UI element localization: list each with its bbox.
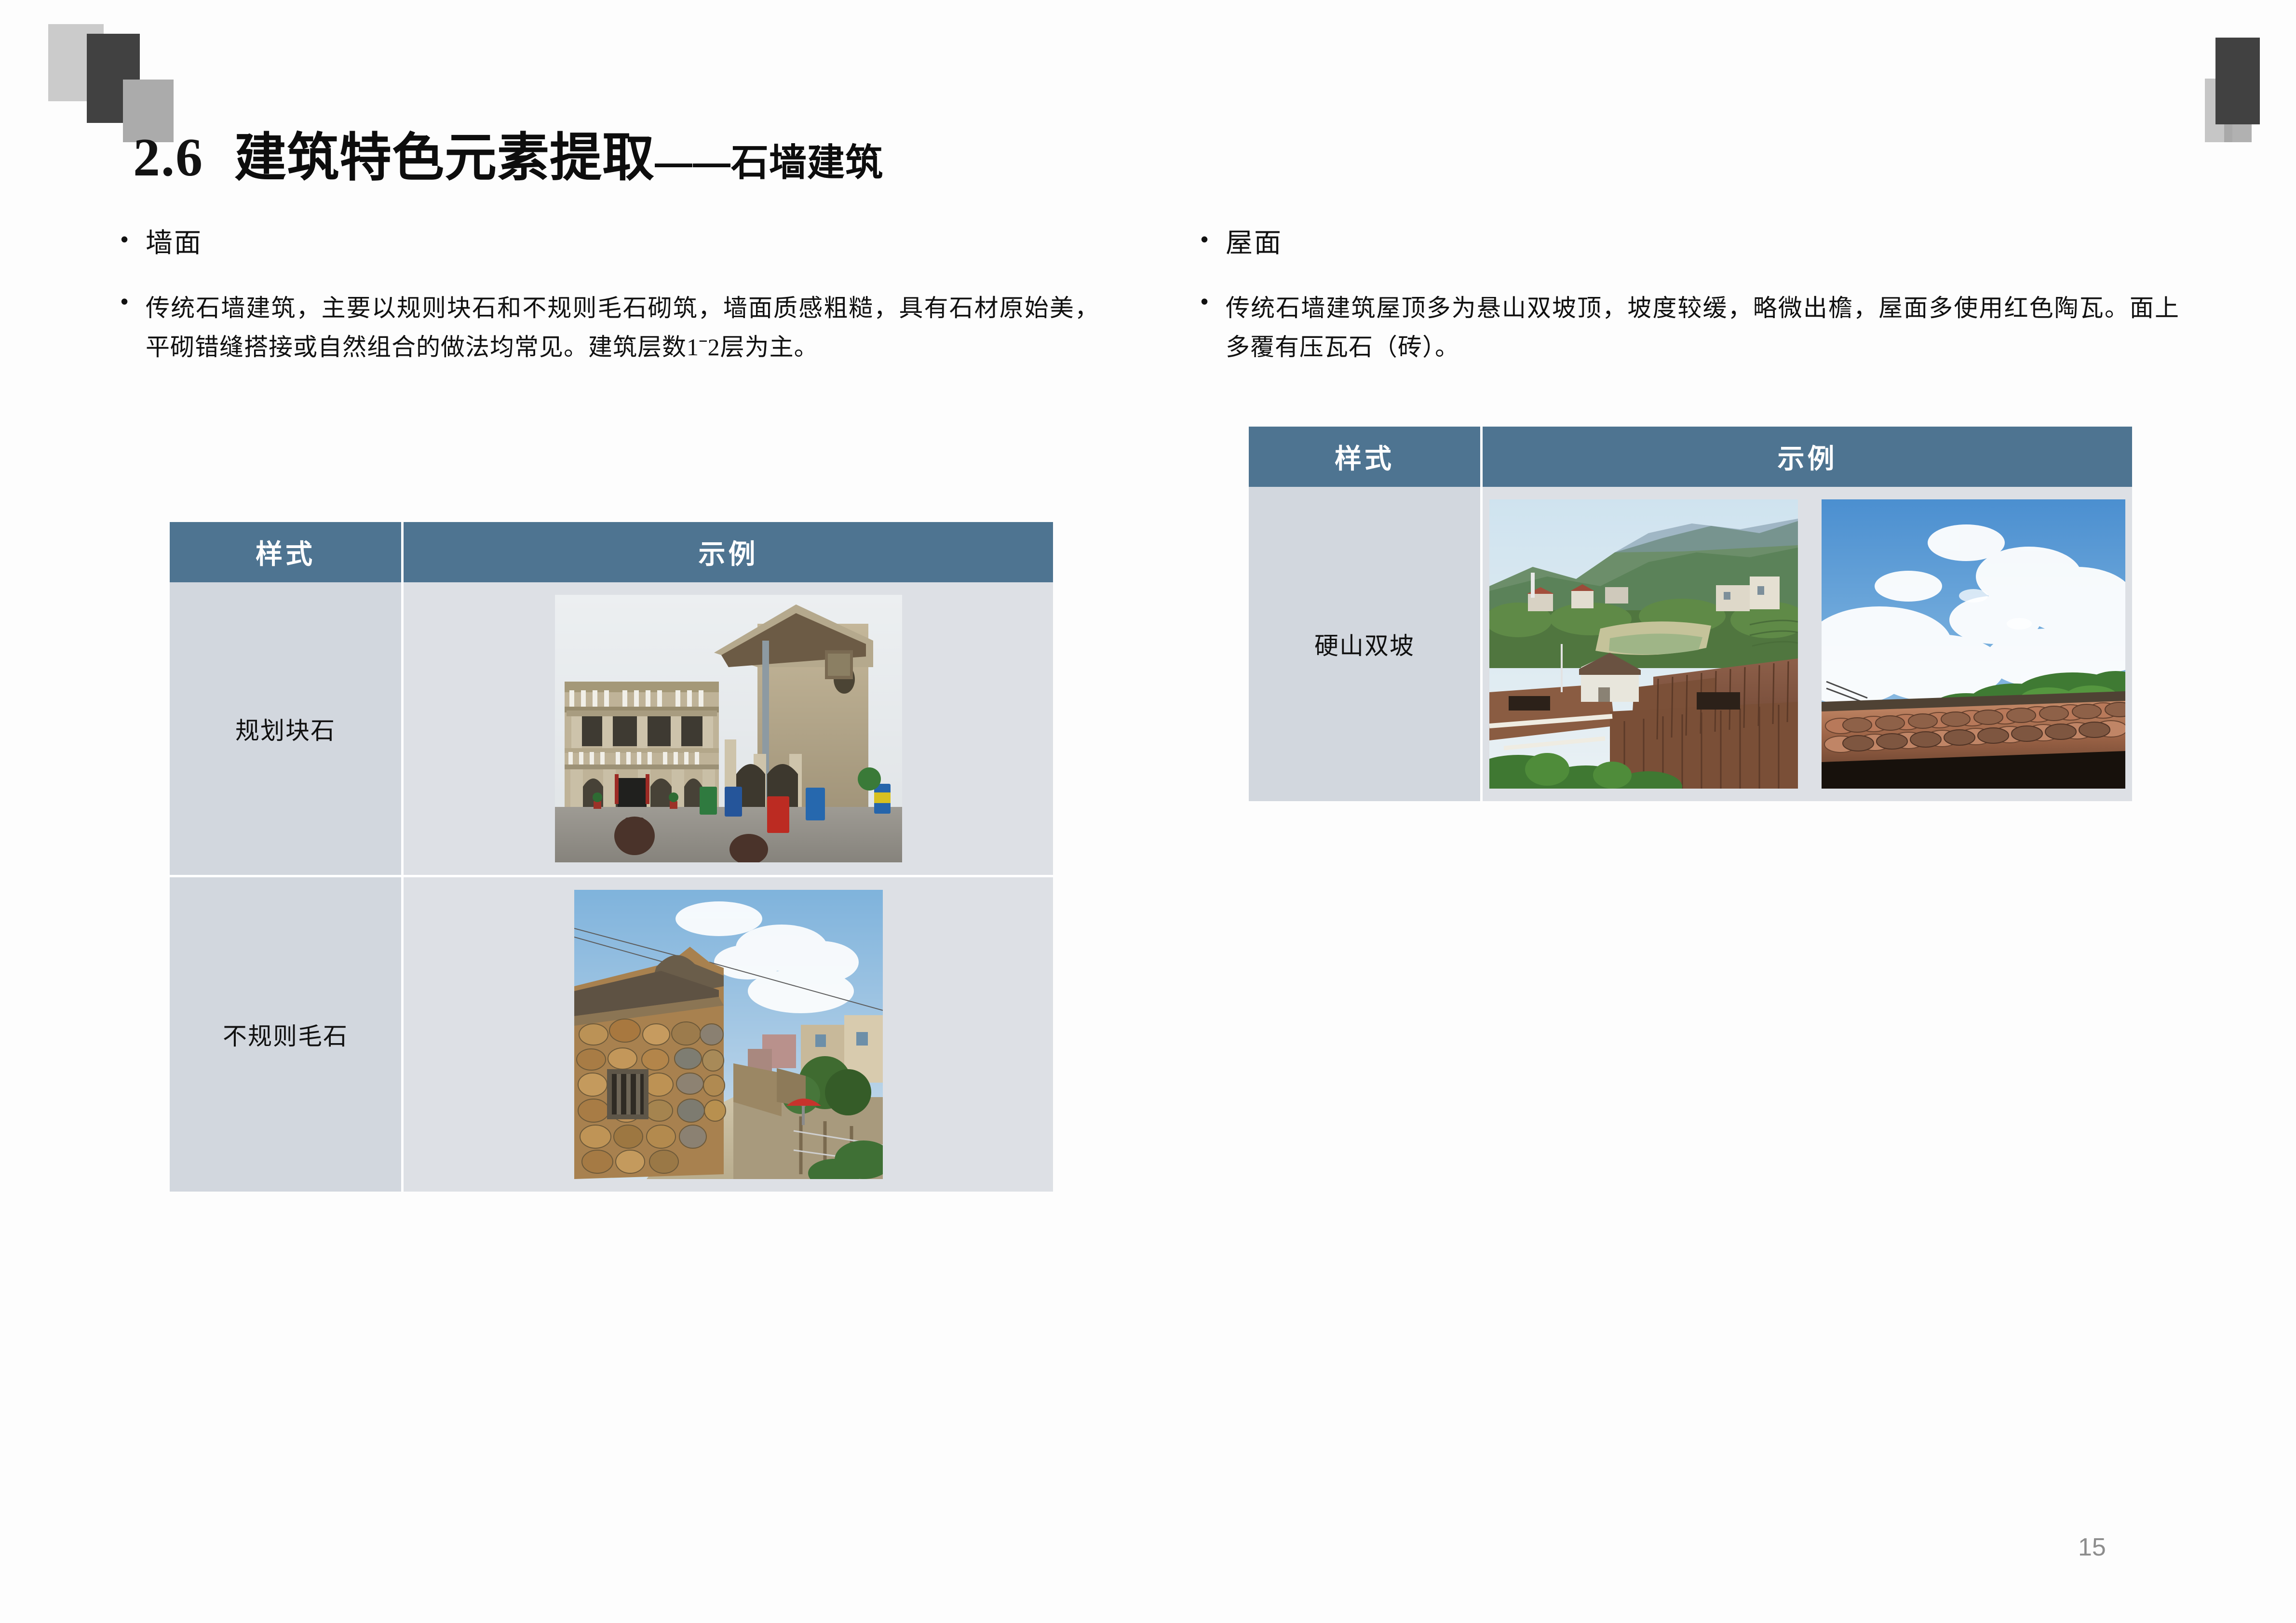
bullet-icon: •: [1201, 289, 1226, 314]
left-column: • 墙面 • 传统石墙建筑，主要以规则块石和不规则毛石砌筑，墙面质感粗糙，具有石…: [121, 227, 1099, 372]
right-spacer: [1201, 264, 2179, 289]
right-column: • 屋面 • 传统石墙建筑屋顶多为悬山双坡顶，坡度较缓，略微出檐，屋面多使用红色…: [1201, 227, 2179, 372]
table-header-row: 样式 示例: [1249, 427, 2132, 487]
right-heading-text: 屋面: [1226, 227, 1283, 259]
page-number: 15: [2078, 1533, 2106, 1562]
header-cell-style: 样式: [1249, 427, 1483, 487]
bullet-icon: •: [121, 227, 146, 252]
left-spacer: [121, 264, 1099, 289]
table-row: 硬山双坡: [1249, 487, 2132, 801]
stone-courtyard-building-photo: [555, 595, 902, 862]
cell-style-label: 硬山双坡: [1249, 487, 1483, 801]
title-section-number: 2.6: [133, 127, 203, 189]
cell-example-image: [404, 877, 1053, 1192]
left-body-bullet: • 传统石墙建筑，主要以规则块石和不规则毛石砌筑，墙面质感粗糙，具有石材原始美，…: [121, 289, 1099, 367]
left-heading-bullet: • 墙面: [121, 227, 1099, 259]
bullet-icon: •: [1201, 227, 1226, 252]
cell-style-label: 不规则毛石: [170, 877, 404, 1192]
page-title: 2.6 建筑特色元素提取 ——石墙建筑: [133, 116, 883, 191]
title-subtitle-text: ——石墙建筑: [655, 133, 883, 187]
bullet-icon: •: [121, 289, 146, 314]
slide-canvas: 2.6 建筑特色元素提取 ——石墙建筑 • 墙面 • 传统石墙建筑，主要以规则块…: [0, 0, 2296, 1623]
right-body-text: 传统石墙建筑屋顶多为悬山双坡顶，坡度较缓，略微出檐，屋面多使用红色陶瓦。面上多覆…: [1226, 289, 2179, 367]
left-heading-text: 墙面: [146, 227, 203, 259]
decoration-right-dark-block: [2215, 38, 2260, 124]
clay-roof-tiles-closeup-photo: [1822, 499, 2125, 789]
photo-container: [404, 877, 1053, 1192]
header-cell-example: 示例: [1483, 427, 2132, 487]
wall-style-table: 样式 示例 规划块石: [170, 522, 1053, 1192]
irregular-rubble-stone-house-photo: [574, 890, 883, 1179]
right-heading-bullet: • 屋面: [1201, 227, 2179, 259]
header-cell-example: 示例: [404, 522, 1053, 582]
roof-style-table: 样式 示例 硬山双坡: [1249, 427, 2132, 801]
cell-example-images: [1483, 487, 2132, 801]
table-header-row: 样式 示例: [170, 522, 1053, 582]
cell-style-label: 规划块石: [170, 582, 404, 877]
title-main-text: 建筑特色元素提取: [234, 116, 655, 191]
left-body-text: 传统石墙建筑，主要以规则块石和不规则毛石砌筑，墙面质感粗糙，具有石材原始美，平砌…: [146, 289, 1099, 367]
right-body-bullet: • 传统石墙建筑屋顶多为悬山双坡顶，坡度较缓，略微出檐，屋面多使用红色陶瓦。面上…: [1201, 289, 2179, 367]
table-row: 不规则毛石: [170, 877, 1053, 1192]
cell-example-image: [404, 582, 1053, 877]
village-tiled-roofs-aerial-photo: [1489, 499, 1798, 789]
header-cell-style: 样式: [170, 522, 404, 582]
photo-container: [404, 582, 1053, 875]
photo-container: [1483, 487, 2132, 801]
table-row: 规划块石: [170, 582, 1053, 877]
